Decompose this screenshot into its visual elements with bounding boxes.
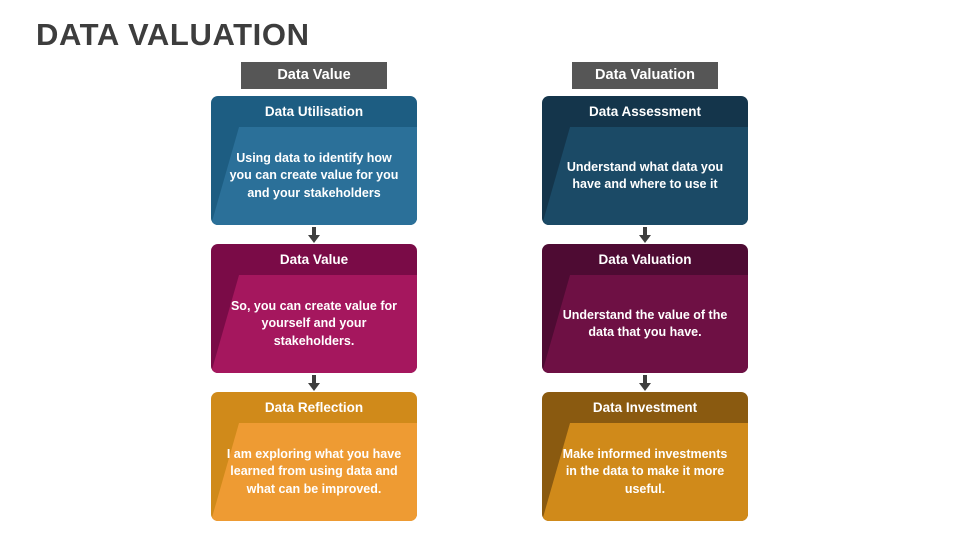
flow-box-data-utilisation[interactable]: Data Utilisation Using data to identify … [211,96,417,225]
flow-box-body: So, you can create value for yourself an… [211,275,417,373]
flow-box-body: Using data to identify how you can creat… [211,127,417,225]
flow-arrow-down [638,227,652,243]
flow-arrow-down [307,375,321,391]
column-tab-label: Data Valuation [595,68,695,83]
flow-box-body: Understand the value of the data that yo… [542,275,748,373]
flow-box-header: Data Assessment [542,96,748,127]
page-title: DATA VALUATION [36,17,310,53]
column-tab-data-value: Data Value [241,62,387,89]
flow-arrow-down [638,375,652,391]
flow-box-data-investment[interactable]: Data Investment Make informed investment… [542,392,748,521]
arrow-head-icon [639,383,651,391]
flow-box-header: Data Value [211,244,417,275]
arrow-head-icon [308,235,320,243]
flow-box-header: Data Reflection [211,392,417,423]
flow-box-body: I am exploring what you have learned fro… [211,423,417,521]
flow-box-header: Data Valuation [542,244,748,275]
flow-box-body: Make informed investments in the data to… [542,423,748,521]
arrow-head-icon [639,235,651,243]
flow-arrow-down [307,227,321,243]
flow-box-data-reflection[interactable]: Data Reflection I am exploring what you … [211,392,417,521]
flow-box-body-text: Understand what data you have and where … [542,127,748,225]
column-tab-data-valuation: Data Valuation [572,62,718,89]
flow-box-body-text: So, you can create value for yourself an… [211,275,417,373]
slide-canvas: DATA VALUATION Data Value Data Utilisati… [0,0,960,540]
flow-box-data-assessment[interactable]: Data Assessment Understand what data you… [542,96,748,225]
column-tab-label: Data Value [277,68,350,83]
flow-box-data-value[interactable]: Data Value So, you can create value for … [211,244,417,373]
flow-box-body: Understand what data you have and where … [542,127,748,225]
flow-box-header: Data Utilisation [211,96,417,127]
flow-box-data-valuation[interactable]: Data Valuation Understand the value of t… [542,244,748,373]
flow-box-body-text: Using data to identify how you can creat… [211,127,417,225]
flow-box-body-text: I am exploring what you have learned fro… [211,423,417,521]
arrow-head-icon [308,383,320,391]
flow-box-body-text: Understand the value of the data that yo… [542,275,748,373]
flow-box-body-text: Make informed investments in the data to… [542,423,748,521]
flow-box-header: Data Investment [542,392,748,423]
